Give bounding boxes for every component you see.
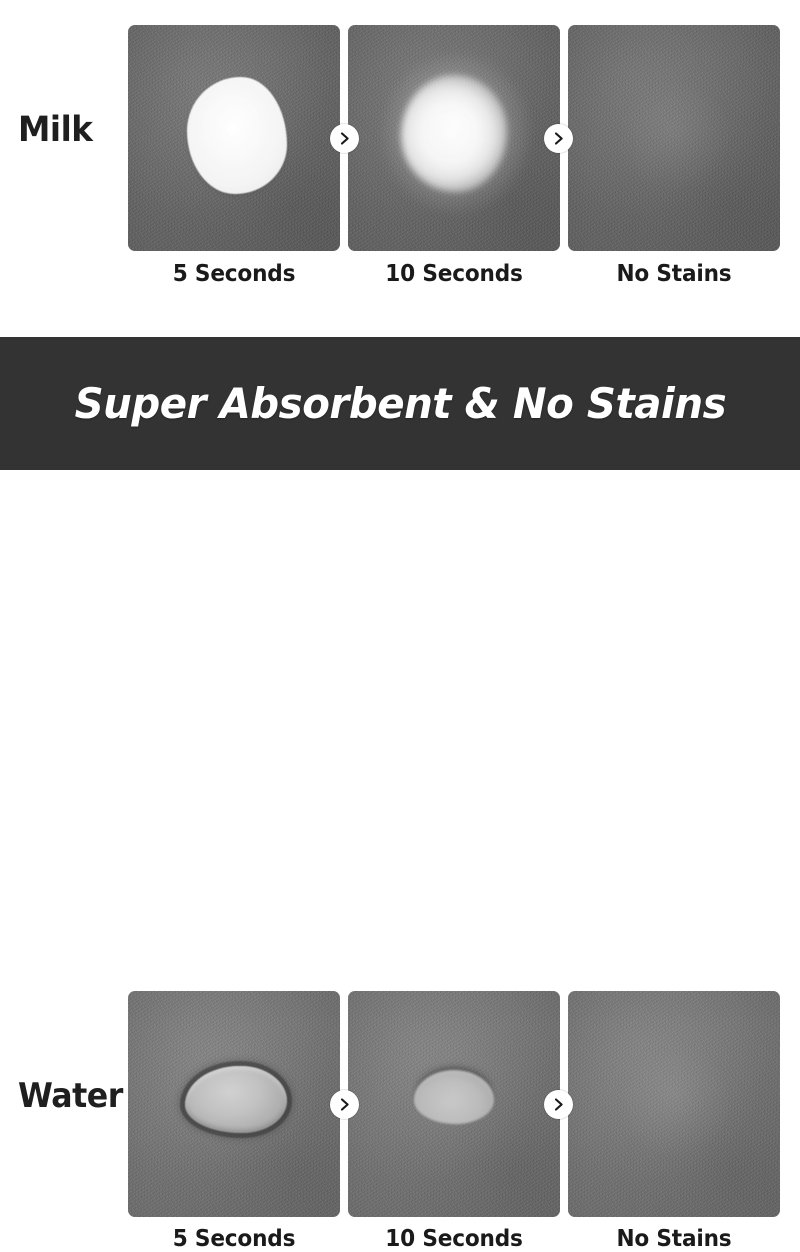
headline-banner: Super Absorbent & No Stains	[0, 337, 800, 470]
sample-panel-milk-10-seconds	[348, 25, 560, 251]
chevron-right-icon	[544, 1090, 573, 1119]
row-label-milk: Milk	[18, 113, 117, 148]
caption-milk-10-seconds: 10 Seconds	[354, 262, 553, 287]
stain-water-absorbing-shadow	[412, 1061, 497, 1097]
panel-strip-milk	[128, 25, 780, 251]
caption-water-10-seconds: 10 Seconds	[354, 1227, 553, 1252]
caption-strip-milk: 5 Seconds 10 Seconds No Stains	[128, 262, 780, 287]
sample-panel-water-10-seconds	[348, 991, 560, 1217]
caption-water-5-seconds: 5 Seconds	[134, 1227, 333, 1252]
stain-water-clean-trace	[619, 1050, 729, 1154]
demo-row-water: Water 5 Seconds 10 Seconds	[0, 483, 800, 800]
stain-milk-faded	[401, 75, 507, 193]
demo-row-milk: Milk 5 Seconds 10 Seconds	[0, 0, 800, 330]
stain-milk-clean-trace	[619, 84, 729, 188]
sample-panel-milk-5-seconds	[128, 25, 340, 251]
headline-text: Super Absorbent & No Stains	[74, 383, 726, 425]
sample-panel-water-5-seconds	[128, 991, 340, 1217]
infographic-canvas: Milk 5 Seconds 10 Seconds	[0, 0, 800, 800]
stain-water-absorbing	[414, 1070, 495, 1124]
stain-milk-halo	[382, 54, 530, 212]
caption-water-no-stains: No Stains	[574, 1227, 773, 1252]
row-label-water: Water	[18, 1079, 117, 1113]
stain-water-bead	[185, 1066, 287, 1134]
sample-panel-milk-no-stains	[568, 25, 780, 251]
caption-strip-water: 5 Seconds 10 Seconds No Stains	[128, 1227, 780, 1252]
chevron-right-icon	[330, 124, 359, 153]
panel-strip-water	[128, 991, 780, 1217]
caption-milk-5-seconds: 5 Seconds	[134, 262, 333, 287]
sample-panel-water-no-stains	[568, 991, 780, 1217]
caption-milk-no-stains: No Stains	[574, 262, 773, 287]
chevron-right-icon	[330, 1090, 359, 1119]
chevron-right-icon	[544, 124, 573, 153]
stain-milk-fresh	[187, 77, 287, 195]
